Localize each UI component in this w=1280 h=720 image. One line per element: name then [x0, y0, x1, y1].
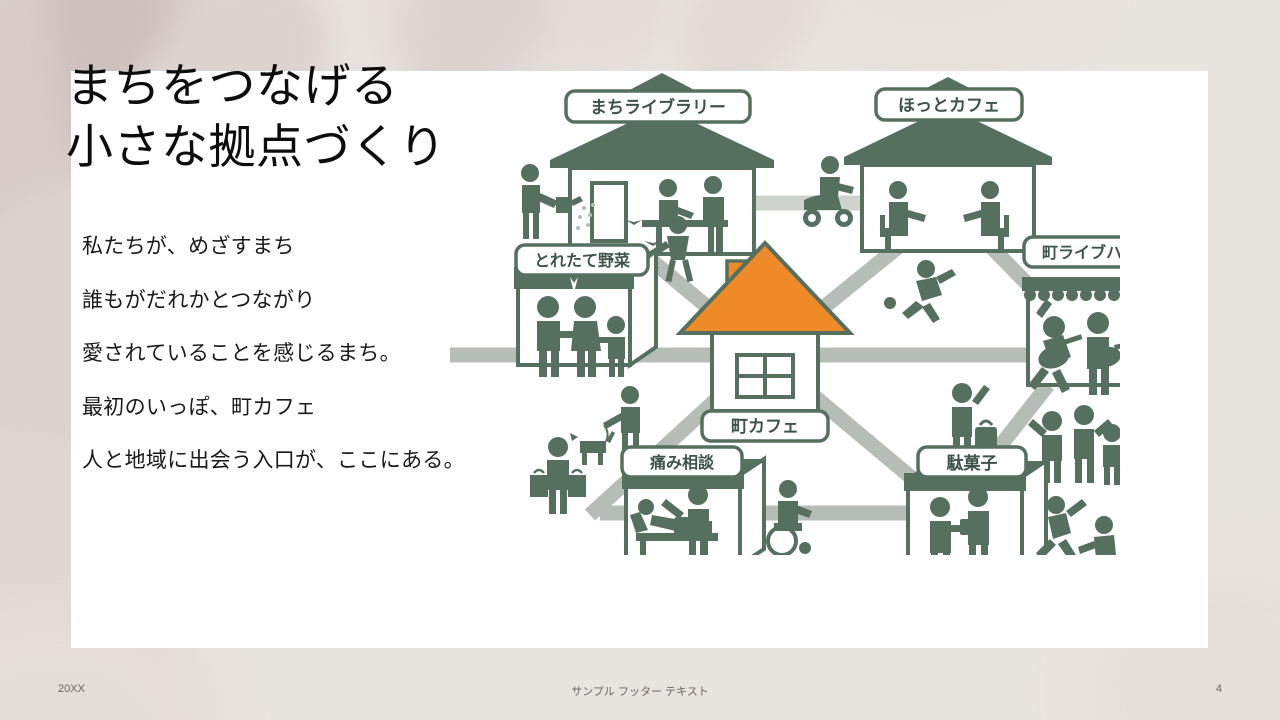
label-vegetables: とれたて野菜: [534, 251, 630, 270]
building-library: まちライブラリー: [550, 73, 774, 254]
label-town-cafe: 町カフェ: [731, 417, 799, 437]
label-library: まちライブラリー: [590, 97, 726, 118]
building-pain-clinic: 痛み相談: [622, 447, 764, 555]
building-sweets: 駄菓子: [904, 447, 1046, 555]
label-sweets: 駄菓子: [947, 453, 998, 474]
building-live-house: 町ライブハウス: [1022, 237, 1120, 395]
footer-page-number: 4: [1216, 683, 1222, 695]
footer-text: サンプル フッター テキスト: [0, 683, 1280, 699]
slide-footer: 20XX サンプル フッター テキスト 4: [0, 680, 1280, 704]
building-vegetables: とれたて野菜: [514, 245, 656, 377]
label-live-house: 町ライブハウス: [1042, 243, 1120, 262]
building-town-cafe: 町カフェ: [680, 243, 850, 441]
scooter-rider: [803, 156, 854, 227]
runner-with-ball: [884, 260, 956, 323]
shopper-with-bags: [530, 437, 586, 514]
building-hot-cafe: ほっとカフェ: [844, 77, 1052, 252]
label-pain-clinic: 痛み相談: [649, 453, 715, 472]
label-hot-cafe: ほっとカフェ: [898, 96, 1000, 116]
town-map-illustration: .g { fill:#55705f; } .gs { fill:none; st…: [430, 55, 1120, 555]
